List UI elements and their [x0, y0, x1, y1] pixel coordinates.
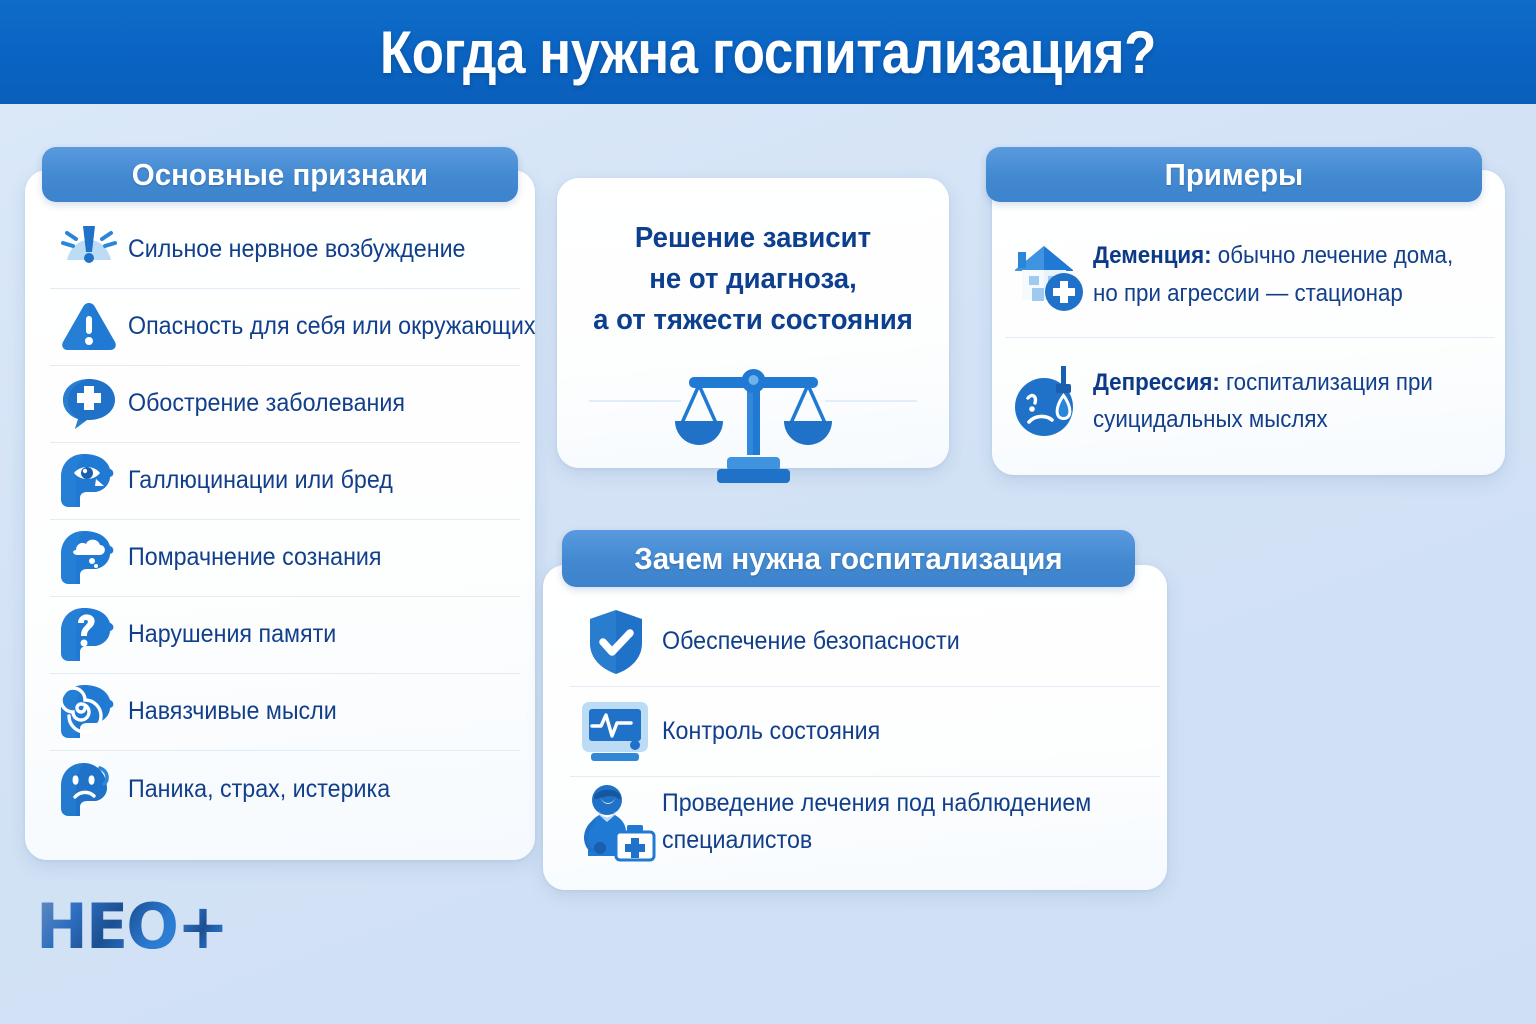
scales-balance-icon — [669, 361, 837, 487]
page-title: Когда нужна госпитализация? — [380, 18, 1156, 87]
examples-panel-header: Примеры — [986, 147, 1482, 202]
statement-card: Решение зависит не от диагноза, а от тяж… — [557, 178, 949, 468]
signs-panel-title: Основные признаки — [132, 157, 428, 193]
list-item: Обеспечение безопасности — [570, 597, 1160, 687]
doctor-medical-kit-icon — [570, 780, 662, 864]
list-item-label: Навязчивые мысли — [128, 696, 337, 727]
vitals-monitor-icon — [570, 690, 662, 774]
list-item-label: Контроль состояния — [662, 713, 880, 751]
head-spiral-icon — [50, 677, 128, 747]
head-eye-icon — [50, 446, 128, 516]
list-item-label: Сильное нервное возбуждение — [128, 234, 465, 265]
speech-bubble-cross-icon — [50, 369, 128, 439]
logo-plus-icon: + — [177, 890, 227, 963]
statement-divider-left — [589, 400, 681, 402]
statement-text: Решение зависит не от диагноза, а от тяж… — [567, 218, 939, 342]
head-cloud-icon — [50, 523, 128, 593]
list-item-label: Опасность для себя или окружающих — [128, 311, 535, 342]
list-item-label: Деменция: обычно лечение дома, но при аг… — [1093, 237, 1467, 311]
sad-face-teardrop-icon — [1005, 355, 1093, 447]
statement-line-2: не от диагноза, — [567, 259, 939, 300]
list-item: Обострение заболевания — [50, 366, 520, 443]
exclamation-burst-icon — [50, 215, 128, 285]
signs-list: Сильное нервное возбуждение Опасность дл… — [50, 212, 520, 828]
statement-line-1: Решение зависит — [567, 218, 939, 259]
list-item: Нарушения памяти — [50, 597, 520, 674]
infographic-page: Когда нужна госпитализация? Основные при… — [0, 0, 1536, 1024]
list-item-lead: Деменция: — [1093, 242, 1212, 269]
list-item: Галлюцинации или бред — [50, 443, 520, 520]
logo: НЕО + — [36, 890, 227, 963]
statement-divider-right — [825, 400, 917, 402]
head-sad-face-icon — [50, 755, 128, 825]
list-item: Помрачнение сознания — [50, 520, 520, 597]
why-list: Обеспечение безопасности Контроль состоя… — [570, 597, 1160, 867]
list-item: Депрессия: госпитализация при суицидальн… — [1005, 338, 1495, 464]
list-item-label: Депрессия: госпитализация при суицидальн… — [1093, 364, 1467, 438]
page-header: Когда нужна госпитализация? — [0, 0, 1536, 104]
logo-text: НЕО — [36, 890, 177, 963]
list-item-label: Галлюцинации или бред — [128, 465, 393, 496]
list-item: Сильное нервное возбуждение — [50, 212, 520, 289]
list-item: Контроль состояния — [570, 687, 1160, 777]
list-item-label: Проведение лечения под наблюдением специ… — [662, 785, 1125, 860]
examples-panel-title: Примеры — [1165, 157, 1304, 193]
house-medical-cross-icon — [1005, 229, 1093, 321]
why-panel-title: Зачем нужна госпитализация — [634, 541, 1062, 577]
examples-list: Деменция: обычно лечение дома, но при аг… — [1005, 212, 1495, 464]
list-item-label: Обострение заболевания — [128, 388, 405, 419]
list-item: Проведение лечения под наблюдением специ… — [570, 777, 1160, 867]
list-item: Опасность для себя или окружающих — [50, 289, 520, 366]
shield-check-icon — [570, 600, 662, 684]
list-item-label: Помрачнение сознания — [128, 542, 381, 573]
list-item-label: Нарушения памяти — [128, 619, 336, 650]
list-item-lead: Депрессия: — [1093, 369, 1220, 396]
warning-triangle-icon — [50, 292, 128, 362]
signs-panel-header: Основные признаки — [42, 147, 518, 202]
list-item-label: Обеспечение безопасности — [662, 623, 960, 661]
statement-line-3: а от тяжести состояния — [567, 300, 939, 341]
list-item: Паника, страх, истерика — [50, 751, 520, 828]
list-item-label: Паника, страх, истерика — [128, 774, 390, 805]
list-item: Деменция: обычно лечение дома, но при аг… — [1005, 212, 1495, 338]
why-panel-header: Зачем нужна госпитализация — [562, 530, 1135, 587]
list-item: Навязчивые мысли — [50, 674, 520, 751]
head-question-icon — [50, 600, 128, 670]
